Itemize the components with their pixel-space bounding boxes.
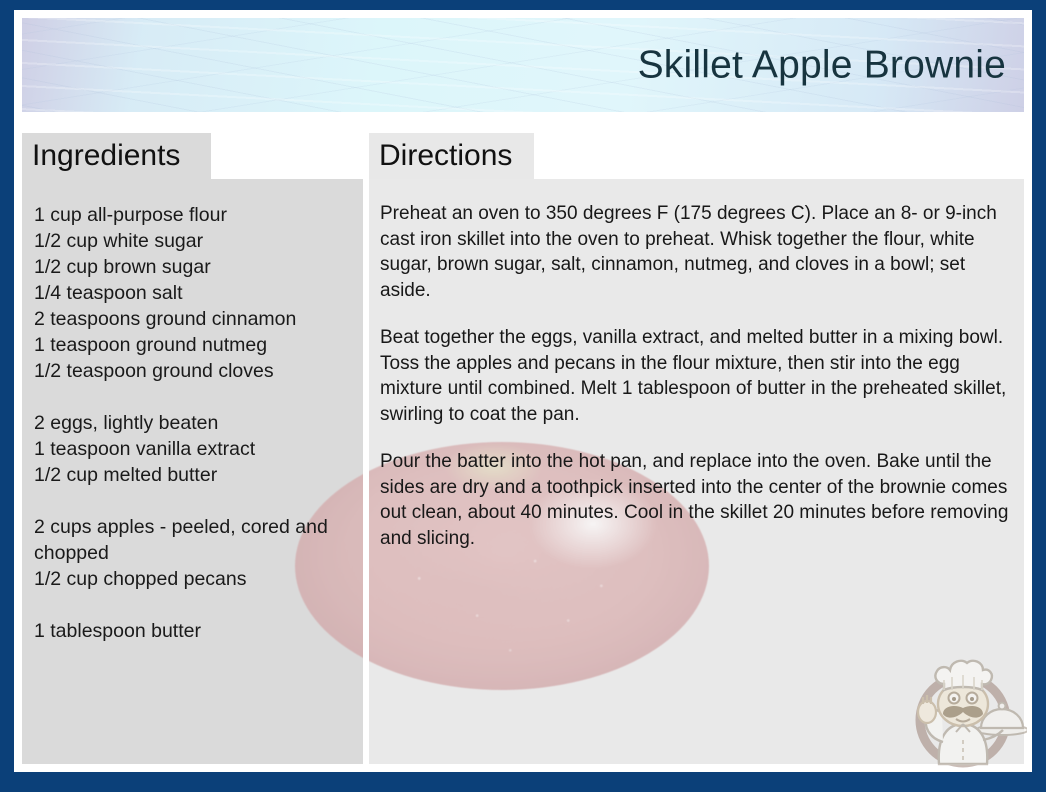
ingredients-panel: 1 cup all-purpose flour1/2 cup white sug… [22,179,363,764]
ingredient-item: 1/2 cup melted butter [34,462,363,488]
ingredient-item: 1/4 teaspoon salt [34,280,363,306]
direction-paragraph: Preheat an oven to 350 degrees F (175 de… [380,201,1010,303]
direction-paragraph: Beat together the eggs, vanilla extract,… [380,325,1010,427]
ingredient-group-spacer [34,384,363,410]
directions-panel: Preheat an oven to 350 degrees F (175 de… [369,179,1024,764]
ingredient-item: 1/2 cup chopped pecans [34,566,363,592]
ingredient-item: 1 cup all-purpose flour [34,202,363,228]
ingredient-item: 1/2 cup brown sugar [34,254,363,280]
recipe-card: Skillet Apple Brownie Ingredients Direct… [0,0,1046,792]
recipe-page: Skillet Apple Brownie Ingredients Direct… [14,10,1032,772]
tab-ingredients[interactable]: Ingredients [22,133,211,179]
ingredient-item: 2 eggs, lightly beaten [34,410,363,436]
ingredient-group-spacer [34,488,363,514]
ingredient-item: 1 teaspoon vanilla extract [34,436,363,462]
ingredient-item: 1/2 cup white sugar [34,228,363,254]
ingredient-item: 1/2 teaspoon ground cloves [34,358,363,384]
direction-paragraph: Pour the batter into the hot pan, and re… [380,449,1010,551]
ingredient-item: 2 teaspoons ground cinnamon [34,306,363,332]
header-banner: Skillet Apple Brownie [22,18,1024,112]
ingredient-item: 1 teaspoon ground nutmeg [34,332,363,358]
ingredients-list: 1 cup all-purpose flour1/2 cup white sug… [34,202,363,644]
page-title: Skillet Apple Brownie [638,46,1006,85]
ingredient-group-spacer [34,592,363,618]
directions-text: Preheat an oven to 350 degrees F (175 de… [380,201,1010,551]
ingredient-item: 2 cups apples - peeled, cored and choppe… [34,514,363,566]
ingredient-item: 1 tablespoon butter [34,618,363,644]
tab-directions[interactable]: Directions [369,133,534,179]
